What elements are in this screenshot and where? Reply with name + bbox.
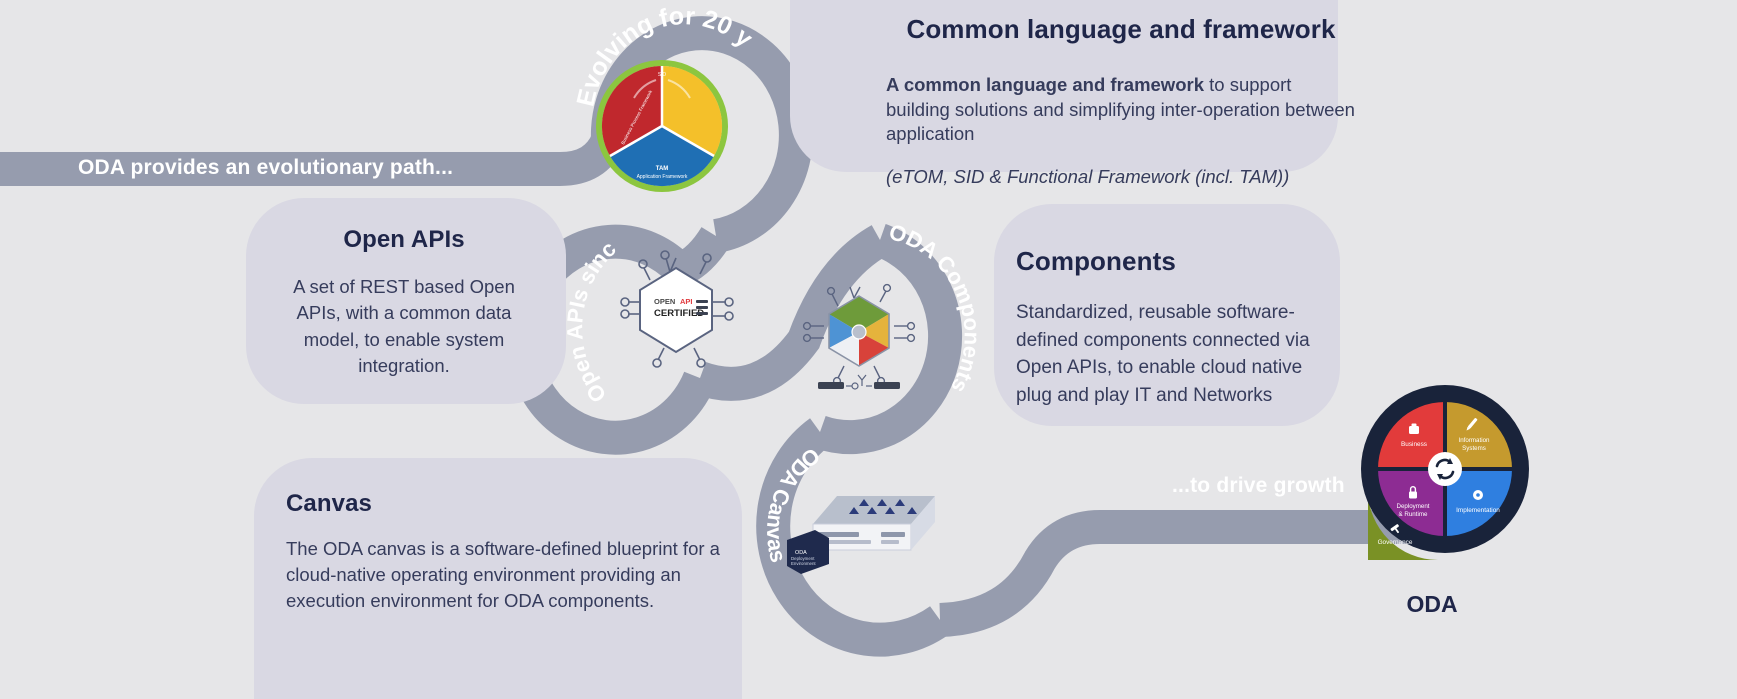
diagram-canvas: Evolving for 20 years Open APIs since 20… — [0, 0, 1737, 699]
open-api-word-open: OPEN — [654, 297, 675, 306]
oda-label-deployment-2: & Runtime — [1399, 511, 1428, 518]
frameworx-label-tam: TAM — [656, 166, 669, 172]
oda-center-badge — [1428, 452, 1462, 486]
panel-common-note: (eTOM, SID & Functional Framework (incl.… — [886, 165, 1356, 190]
road-label-end: ...to drive growth — [1172, 474, 1345, 498]
svg-text:Environment: Environment — [791, 561, 816, 566]
components-hub-node — [852, 325, 866, 339]
panel-components: Components Standardized, reusable softwa… — [1016, 246, 1336, 409]
oda-label-implementation: Implementation — [1456, 507, 1500, 514]
oda-label-information-systems-2: Systems — [1462, 445, 1486, 452]
panel-common-lead: A common language and framework to suppo… — [886, 73, 1356, 147]
panel-open-apis-title: Open APIs — [288, 226, 520, 254]
oda-label-business: Business — [1401, 441, 1427, 448]
oda-label-governance: Governance — [1378, 539, 1413, 546]
panel-common-language: Common language and framework A common l… — [886, 14, 1356, 189]
frameworx-label-sid: SID — [658, 72, 667, 78]
road-label-start: ODA provides an evolutionary path... — [78, 156, 453, 180]
panel-common-lead-bold: A common language and framework — [886, 74, 1204, 95]
oda-logo: Business Information Systems Implementat… — [1354, 378, 1536, 560]
panel-canvas-title: Canvas — [286, 490, 726, 518]
oda-label-deployment-1: Deployment — [1396, 503, 1429, 510]
panel-components-title: Components — [1016, 246, 1336, 277]
panel-open-apis-body: A set of REST based Open APIs, with a co… — [288, 274, 520, 379]
components-open-api-chips — [818, 375, 900, 389]
briefcase-icon — [1409, 426, 1419, 434]
oda-canvas-platform-icon: ODA Deployment Environment — [785, 478, 955, 588]
open-api-word-api: API — [680, 297, 693, 306]
canvas-deployment-badge: ODA Deployment Environment — [787, 530, 829, 574]
open-api-certified-icon: OPEN API CERTIFIED — [614, 246, 738, 370]
oda-label-information-systems-1: Information — [1459, 437, 1491, 444]
oda-components-hexagon-icon — [800, 282, 918, 400]
gear-icon — [1473, 490, 1483, 500]
panel-open-apis: Open APIs A set of REST based Open APIs,… — [288, 226, 520, 379]
panel-canvas: Canvas The ODA canvas is a software-defi… — [286, 490, 726, 614]
frameworx-label-appframework: Application Framework — [637, 174, 688, 180]
tmforum-frameworx-icon: TAM Application Framework Business Proce… — [594, 58, 730, 194]
panel-components-body: Standardized, reusable software-defined … — [1016, 299, 1336, 409]
open-api-stack-glyph — [696, 300, 708, 315]
panel-common-title: Common language and framework — [886, 14, 1356, 45]
panel-canvas-body: The ODA canvas is a software-defined blu… — [286, 536, 726, 614]
oda-logo-caption: ODA — [1368, 591, 1496, 618]
